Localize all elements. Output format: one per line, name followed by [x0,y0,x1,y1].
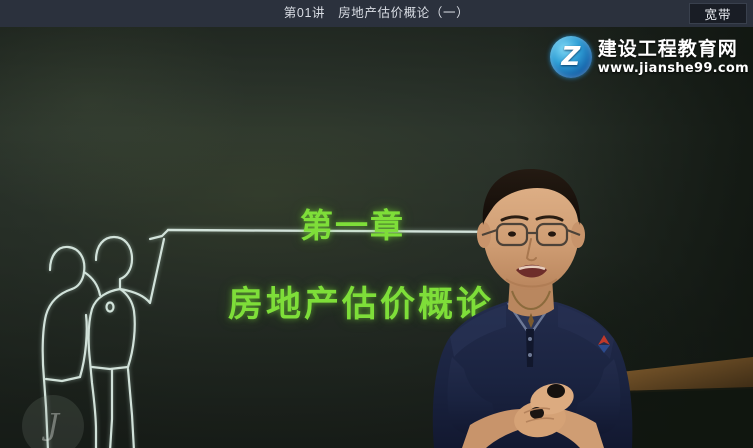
blackboard-chapter-title: 第一章 [300,199,405,247]
logo-letter: Z [550,36,592,78]
blackboard-chapter-subtitle: 房地产估价概论 [228,276,494,327]
logo-mark-icon: Z [550,36,592,78]
player-title-bar: 第01讲 房地产估价概论（一） 宽带 [0,0,753,27]
site-logo-watermark: Z 建设工程教育网 www.jianshe99.com [550,36,749,78]
logo-site-name: 建设工程教育网 [598,40,749,59]
bandwidth-button[interactable]: 宽带 [689,3,747,24]
video-player: 第01讲 房地产估价概论（一） 宽带 [0,0,753,448]
corner-watermark: J [22,395,84,448]
lecture-title: 第01讲 房地产估价概论（一） [284,0,469,27]
logo-site-url: www.jianshe99.com [598,62,749,75]
video-stage[interactable]: 第一章 房地产估价概论 J [0,27,753,448]
watermark-glyph: J [47,411,59,441]
